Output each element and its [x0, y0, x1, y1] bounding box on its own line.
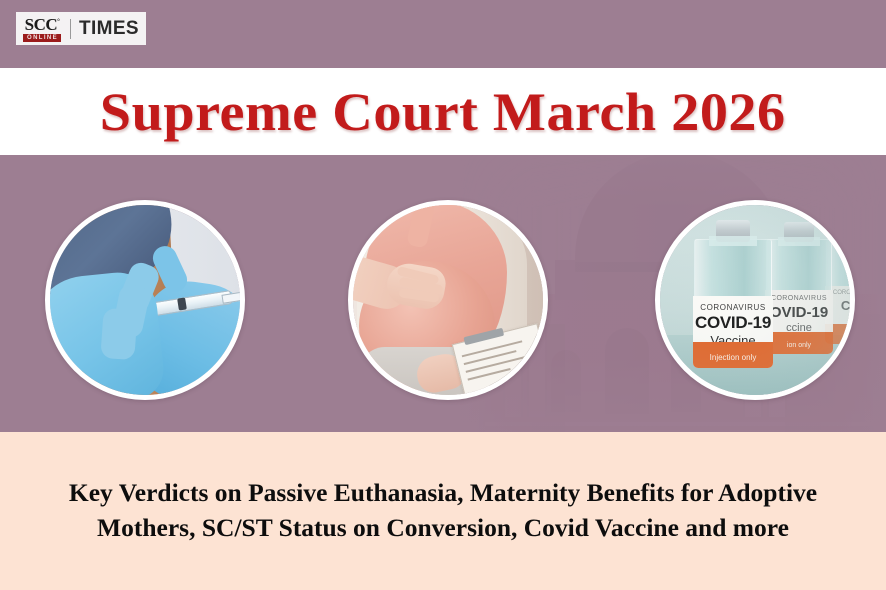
- vial-label: CORONAVIRUS COVID-19 Vaccine Injection o…: [693, 296, 773, 368]
- caption-band: Key Verdicts on Passive Euthanasia, Mate…: [0, 432, 886, 590]
- pregnancy-photo: [348, 200, 548, 400]
- scc-online-times-logo[interactable]: SCC° ONLINE TIMES: [16, 12, 146, 45]
- vial-label: CORONAVIRUS OVID-19 ccine ion only: [765, 290, 833, 354]
- page-title: Supreme Court March 2026: [100, 81, 786, 143]
- vial-label-coronavirus: CORONAVIRUS: [693, 303, 773, 312]
- scc-logo-mark: SCC° ONLINE: [23, 16, 61, 42]
- vaccine-vial-front: CORONAVIRUS COVID-19 Vaccine Injection o…: [694, 239, 772, 367]
- scc-text: SCC: [25, 15, 58, 34]
- vaccination-photo: [45, 200, 245, 400]
- covid-vaccine-vials-photo: CORONAVIRUS COV Va In CORONAVIRUS OVID-1…: [655, 200, 855, 400]
- times-wordmark: TIMES: [79, 18, 139, 40]
- vial-label-covid: OVID-19: [765, 304, 833, 321]
- caption-text: Key Verdicts on Passive Euthanasia, Mate…: [40, 476, 846, 547]
- logo-divider-icon: [70, 19, 71, 39]
- title-band: Supreme Court March 2026: [0, 68, 886, 155]
- vial-neck: [709, 236, 757, 246]
- vial-neck: [778, 237, 820, 246]
- scc-degree-icon: °: [57, 17, 59, 25]
- vaccine-vial-middle: CORONAVIRUS OVID-19 ccine ion only: [766, 239, 832, 353]
- scc-wordmark: SCC°: [25, 16, 60, 33]
- glove-finger: [100, 308, 137, 360]
- vial-label-injection: Injection only: [693, 353, 773, 362]
- online-badge: ONLINE: [23, 34, 61, 42]
- vial-label-injection: ion only: [765, 342, 833, 349]
- vial-label-covid: COVID-19: [693, 313, 773, 333]
- syringe-plunger-tip: [177, 297, 187, 310]
- poster-root: SCC° ONLINE TIMES Supreme Court March 20…: [0, 0, 886, 590]
- vial-label-coronavirus: CORONAVIRUS: [765, 295, 833, 302]
